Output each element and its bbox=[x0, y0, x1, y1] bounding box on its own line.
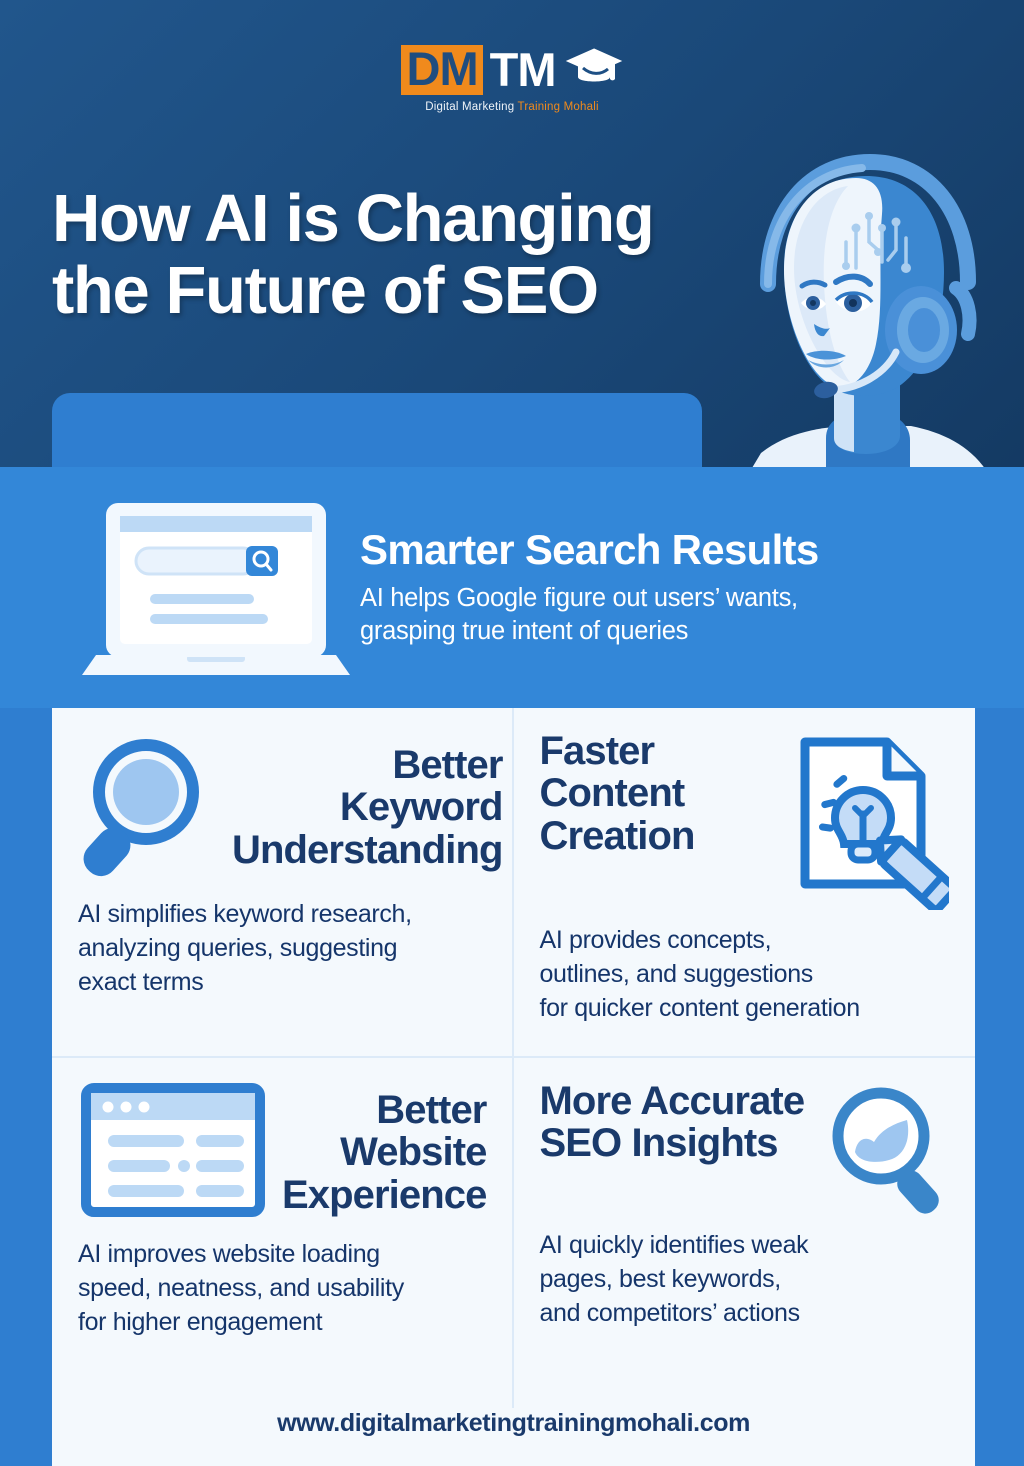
card-desc-line-1: AI improves website loading bbox=[78, 1240, 380, 1268]
card-header: Faster Content Creation bbox=[540, 730, 950, 915]
header-section: DMTM Digital Marketing Training Mohali H… bbox=[0, 0, 1024, 470]
ai-robot-illustration bbox=[706, 138, 1006, 470]
hero-desc-line-1: AI helps Google figure out users’ wants, bbox=[360, 584, 798, 612]
browser-window-icon bbox=[78, 1080, 268, 1225]
footer-website-url[interactable]: www.digitalmarketingtrainingmohali.com bbox=[52, 1409, 975, 1438]
card-desc-line-1: AI quickly identifies weak bbox=[540, 1231, 809, 1259]
card-description: AI provides concepts, outlines, and sugg… bbox=[540, 923, 950, 1025]
card-desc-line-3: exact terms bbox=[78, 968, 203, 996]
card-title-line-3: Understanding bbox=[232, 828, 503, 872]
hero-card-top-accent bbox=[52, 393, 702, 470]
card-desc-line-3: for quicker content generation bbox=[540, 994, 860, 1022]
card-desc-line-1: AI simplifies keyword research, bbox=[78, 900, 412, 928]
page-title: How AI is Changing the Future of SEO bbox=[52, 183, 712, 326]
hero-title: Smarter Search Results bbox=[360, 528, 955, 572]
card-title-line-2: Content bbox=[540, 771, 685, 815]
card-title-line-2: SEO Insights bbox=[540, 1121, 778, 1165]
card-title-line-2: Website bbox=[340, 1130, 486, 1174]
card-desc-line-2: analyzing queries, suggesting bbox=[78, 934, 397, 962]
card-desc-line-2: pages, best keywords, bbox=[540, 1265, 781, 1293]
card-desc-line-2: speed, neatness, and usability bbox=[78, 1274, 404, 1302]
infographic-poster: DMTM Digital Marketing Training Mohali H… bbox=[0, 0, 1024, 1466]
hero-text-block: Smarter Search Results AI helps Google f… bbox=[360, 528, 975, 648]
card-description: AI quickly identifies weak pages, best k… bbox=[540, 1228, 950, 1330]
card-title-line-1: Faster bbox=[540, 729, 655, 773]
logo-tm-text: TM bbox=[490, 48, 556, 93]
title-line-1: How AI is Changing bbox=[52, 181, 653, 256]
magnifier-chart-icon bbox=[819, 1080, 949, 1220]
tagline-primary: Digital Marketing bbox=[425, 101, 517, 113]
card-desc-line-3: and competitors’ actions bbox=[540, 1299, 800, 1327]
title-line-2: the Future of SEO bbox=[52, 255, 712, 327]
graduation-cap-icon bbox=[565, 46, 623, 94]
magnifier-icon bbox=[78, 730, 218, 885]
card-title-line-1: Better bbox=[376, 1088, 486, 1132]
card-description: AI improves website loading speed, neatn… bbox=[78, 1237, 486, 1339]
card-desc-line-1: AI provides concepts, bbox=[540, 926, 772, 954]
benefit-card-content-creation: Faster Content Creation bbox=[514, 708, 976, 1058]
benefit-card-website-experience: Better Website Experience AI improves we… bbox=[52, 1058, 514, 1408]
card-title-line-1: Better bbox=[392, 743, 502, 787]
benefits-grid: Better Keyword Understanding AI simplifi… bbox=[52, 708, 975, 1408]
card-header: More Accurate SEO Insights bbox=[540, 1080, 950, 1220]
tagline-secondary: Training Mohali bbox=[518, 101, 599, 113]
card-title-line-2: Keyword bbox=[340, 785, 503, 829]
right-edge-strip bbox=[975, 708, 1024, 1466]
brand-tagline: Digital Marketing Training Mohali bbox=[0, 102, 1024, 114]
card-title-line-3: Experience bbox=[282, 1173, 486, 1217]
card-title: Faster Content Creation bbox=[540, 730, 782, 857]
card-title: Better Website Experience bbox=[276, 1089, 486, 1216]
brand-logo: DMTM Digital Marketing Training Mohali bbox=[0, 45, 1024, 113]
logo-dm-text: DM bbox=[401, 45, 483, 95]
card-desc-line-2: outlines, and suggestions bbox=[540, 960, 813, 988]
hero-description: AI helps Google figure out users’ wants,… bbox=[360, 582, 955, 648]
card-description: AI simplifies keyword research, analyzin… bbox=[78, 897, 486, 999]
hero-desc-line-2: grasping true intent of queries bbox=[360, 617, 688, 645]
card-title: More Accurate SEO Insights bbox=[540, 1080, 812, 1165]
benefit-card-keyword-understanding: Better Keyword Understanding AI simplifi… bbox=[52, 708, 514, 1058]
card-title-line-1: More Accurate bbox=[540, 1079, 805, 1123]
card-desc-line-3: for higher engagement bbox=[78, 1308, 322, 1336]
benefits-panel: Better Keyword Understanding AI simplifi… bbox=[52, 708, 975, 1466]
card-header: Better Website Experience bbox=[78, 1080, 486, 1225]
laptop-search-icon bbox=[82, 493, 350, 683]
document-lightbulb-pencil-icon bbox=[789, 730, 949, 915]
card-title-line-3: Creation bbox=[540, 814, 695, 858]
left-edge-strip bbox=[0, 708, 52, 1466]
card-header: Better Keyword Understanding bbox=[78, 730, 486, 885]
hero-content: Smarter Search Results AI helps Google f… bbox=[52, 467, 975, 708]
benefit-card-seo-insights: More Accurate SEO Insights AI quickly id… bbox=[514, 1058, 976, 1408]
hero-band: Smarter Search Results AI helps Google f… bbox=[0, 467, 1024, 708]
card-title: Better Keyword Understanding bbox=[226, 744, 503, 871]
